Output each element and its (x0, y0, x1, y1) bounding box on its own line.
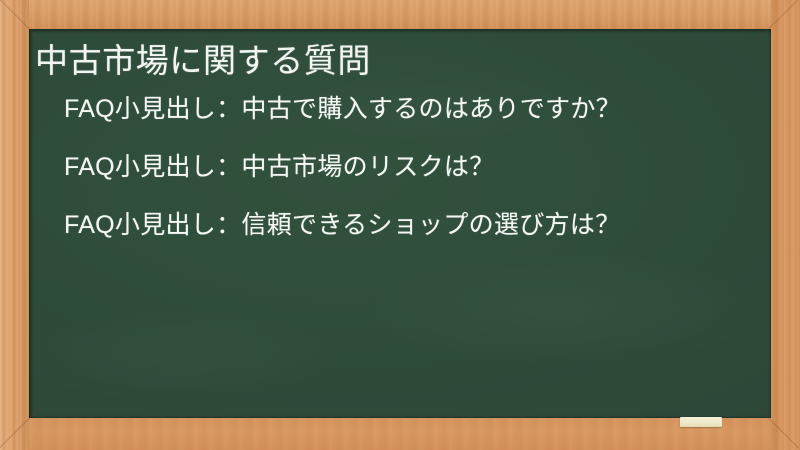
chalk-stick-icon (680, 417, 722, 427)
list-item: FAQ小見出し：中古で購入するのはありですか？ (64, 97, 753, 122)
frame-top (0, 0, 800, 29)
blackboard-figure: 中古市場に関する質問 FAQ小見出し：中古で購入するのはありですか？ FAQ小見… (0, 0, 800, 450)
board-content: 中古市場に関する質問 FAQ小見出し：中古で購入するのはありですか？ FAQ小見… (29, 29, 771, 418)
list-item: FAQ小見出し：信頼できるショップの選び方は？ (64, 213, 753, 238)
frame-right (771, 0, 800, 450)
list-item: FAQ小見出し：中古市場のリスクは？ (64, 155, 753, 180)
faq-list: FAQ小見出し：中古で購入するのはありですか？ FAQ小見出し：中古市場のリスク… (33, 97, 753, 238)
chalkboard: 中古市場に関する質問 FAQ小見出し：中古で購入するのはありですか？ FAQ小見… (29, 29, 771, 418)
frame-left (0, 0, 29, 450)
page-title: 中古市場に関する質問 (33, 39, 753, 83)
